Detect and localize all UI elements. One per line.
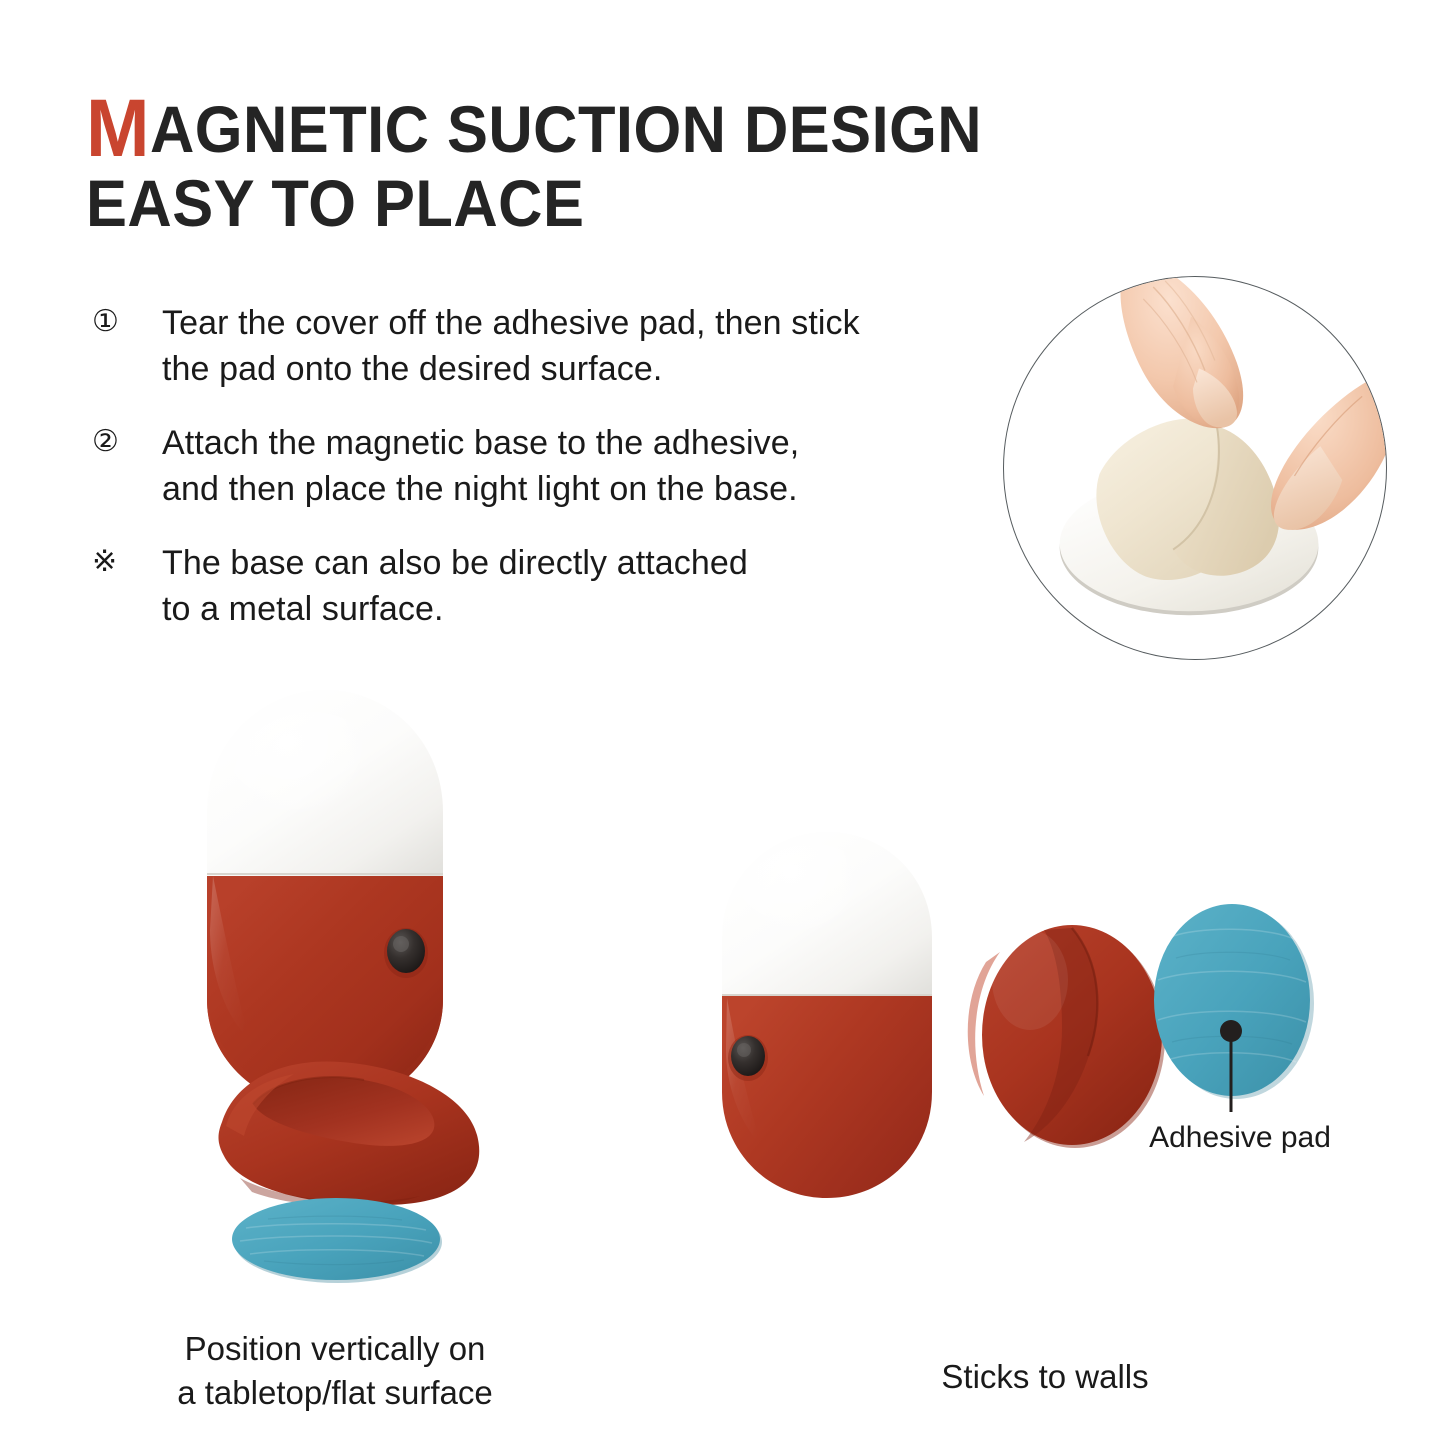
magnetic-base-side (968, 925, 1165, 1148)
note-line-2: to a metal surface. (162, 586, 748, 632)
instruction-step: ② Attach the magnetic base to the adhesi… (88, 420, 988, 512)
page-title: MAGNETIC SUCTION DESIGN EASY TO PLACE (86, 92, 1086, 240)
note-text: The base can also be directly attached t… (162, 540, 748, 632)
title-line-1-rest: AGNETIC SUCTION DESIGN (150, 92, 982, 166)
caption-tabletop-line-1: Position vertically on (100, 1327, 570, 1371)
instruction-note: ※ The base can also be directly attached… (88, 540, 988, 632)
title-line-1: MAGNETIC SUCTION DESIGN (86, 92, 1016, 166)
step-1-line-1: Tear the cover off the adhesive pad, the… (162, 304, 860, 342)
adhesive-pad-disc-left (232, 1198, 442, 1283)
title-line-2: EASY TO PLACE (86, 166, 1016, 240)
caption-wall: Sticks to walls (830, 1355, 1260, 1399)
adhesive-pad-label: Adhesive pad (1130, 1118, 1350, 1158)
infographic-page: MAGNETIC SUCTION DESIGN EASY TO PLACE ① … (0, 0, 1445, 1445)
instruction-list: ① Tear the cover off the adhesive pad, t… (88, 300, 988, 660)
adhesive-pad-photo-inset (1003, 276, 1387, 660)
note-marker-icon: ※ (88, 540, 162, 584)
step-1-text: Tear the cover off the adhesive pad, the… (162, 300, 860, 392)
finger-lower (1271, 369, 1386, 530)
step-2-text: Attach the magnetic base to the adhesive… (162, 420, 799, 512)
left-assembly-illustration (207, 690, 479, 1283)
adhesive-pad-leader-line (1220, 1020, 1242, 1112)
step-2-line-2: and then place the night light on the ba… (162, 466, 799, 512)
step-2-line-1: Attach the magnetic base to the adhesive… (162, 424, 799, 462)
note-line-1: The base can also be directly attached (162, 544, 748, 582)
caption-tabletop-line-2: a tabletop/flat surface (100, 1371, 570, 1415)
instruction-step: ① Tear the cover off the adhesive pad, t… (88, 300, 988, 392)
saucer-base (219, 1062, 480, 1207)
finger-upper (1120, 277, 1243, 428)
step-1-line-2: the pad onto the desired surface. (162, 346, 860, 392)
adhesive-pad-disc-right (1154, 904, 1314, 1099)
caption-tabletop: Position vertically on a tabletop/flat s… (100, 1327, 570, 1415)
title-drop-cap: M (86, 83, 150, 174)
step-number-1-icon: ① (88, 300, 162, 344)
step-number-2-icon: ② (88, 420, 162, 464)
